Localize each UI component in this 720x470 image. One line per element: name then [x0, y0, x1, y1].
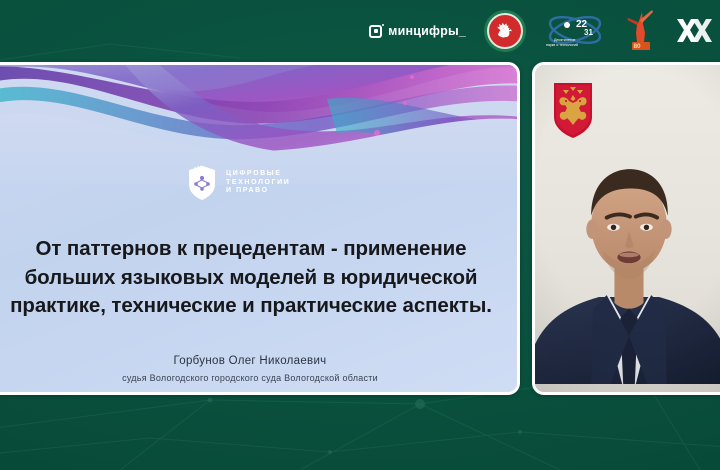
brand-line-2: ТЕХНОЛОГИИ [226, 179, 290, 187]
presentation-slide[interactable]: ЦИФРОВЫЕ ТЕХНОЛОГИИ И ПРАВО От паттернов… [0, 62, 520, 395]
atom-orbit-logo: 22 31 Десятилетие науки и технологий [544, 11, 606, 51]
digital-shield-icon [187, 165, 217, 201]
svg-text:науки и технологий: науки и технологий [546, 43, 578, 47]
brand-line-1: ЦИФРОВЫЕ [226, 170, 290, 178]
svg-text:Десятилетие: Десятилетие [554, 38, 575, 42]
screen: минцифры_ [0, 0, 720, 470]
mincifry-logo-icon [369, 25, 382, 38]
participant-video-tile[interactable] [532, 62, 720, 395]
video-vignette [535, 65, 720, 392]
xx-pattern-logo-icon [676, 16, 712, 46]
statue-logo: 80 [624, 9, 658, 53]
slide-speaker-block: Горбунов Олег Николаевич судья Вологодск… [0, 354, 503, 395]
svg-text:80: 80 [634, 43, 642, 50]
speaker-name: Горбунов Олег Николаевич [0, 354, 503, 369]
mincifry-label: минцифры_ [388, 24, 466, 38]
tatarstan-emblem [484, 8, 526, 54]
slide-brand-lockup: ЦИФРОВЫЕ ТЕХНОЛОГИИ И ПРАВО [187, 165, 290, 201]
tatarstan-emblem-icon [492, 18, 518, 44]
svg-text:31: 31 [584, 28, 593, 37]
slide-brand-text: ЦИФРОВЫЕ ТЕХНОЛОГИИ И ПРАВО [226, 170, 290, 195]
slide-title-line-2: больших языковых моделей в юридической [0, 264, 505, 293]
speaker-role: судья Вологодского городского суда Волог… [0, 371, 503, 386]
mincifry-logo: минцифры_ [369, 8, 466, 54]
slide-title: От паттернов к прецедентам - применение … [0, 235, 505, 321]
slide-title-line-3: практике, технические и практические асп… [0, 292, 505, 321]
slide-title-line-1: От паттернов к прецедентам - применение [0, 235, 505, 264]
brand-line-3: И ПРАВО [226, 187, 290, 195]
atom-orbit-logo-icon: 22 31 Десятилетие науки и технологий [544, 11, 606, 51]
statue-logo-icon: 80 [624, 9, 658, 53]
xx-pattern-logo [676, 16, 712, 46]
conference-logo-bar: минцифры_ [0, 0, 720, 62]
